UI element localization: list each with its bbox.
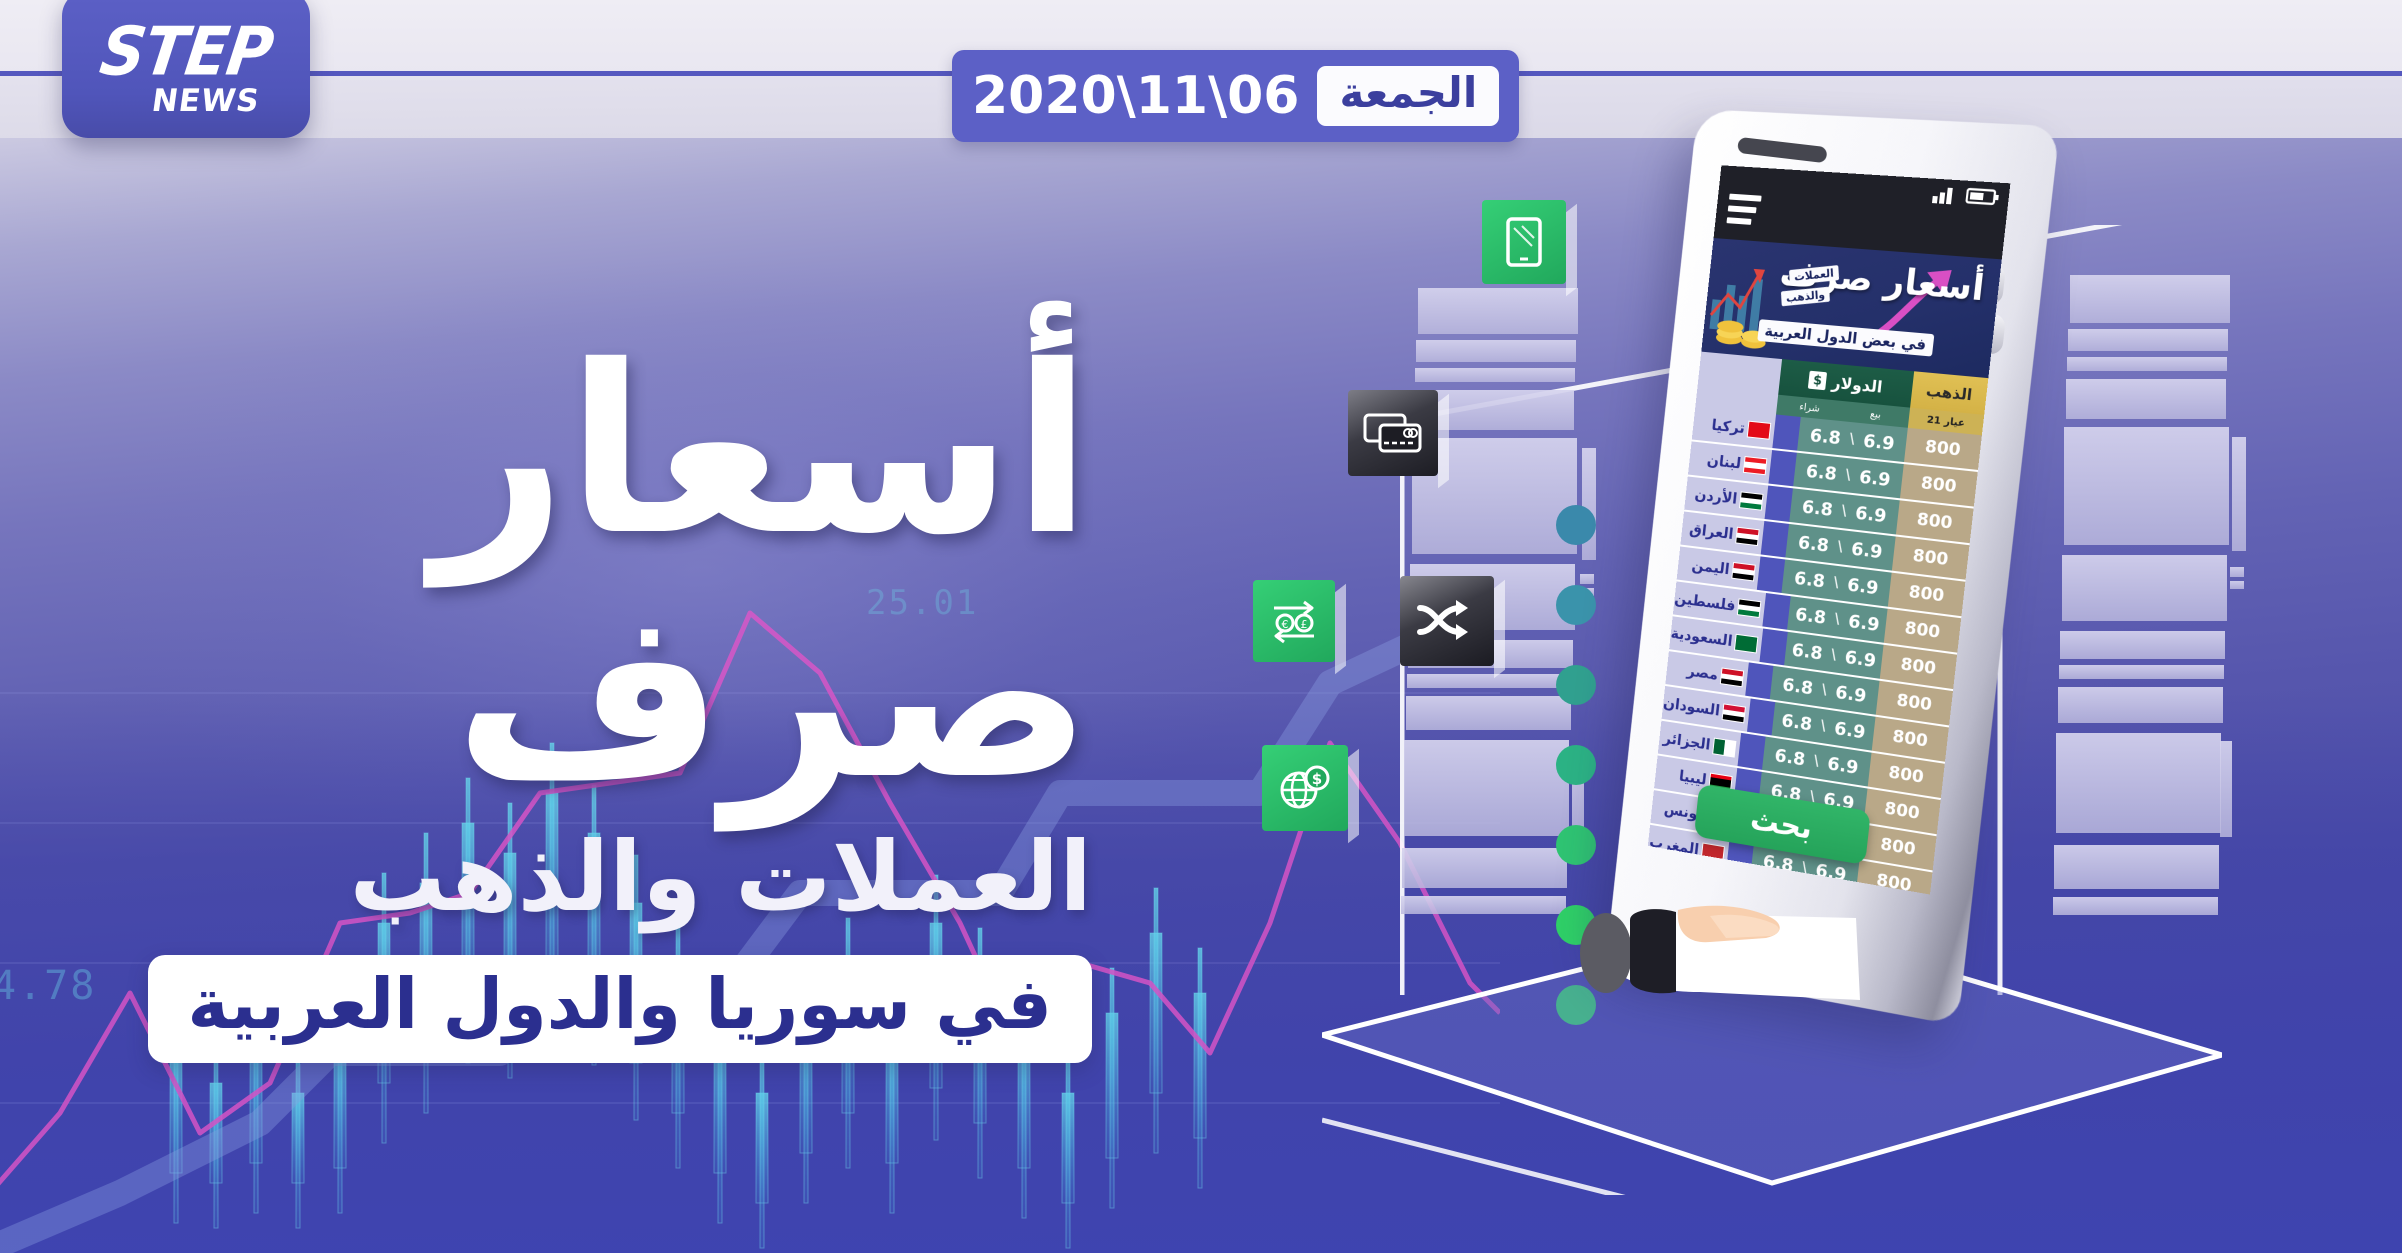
- cell-sell: 6.9: [1833, 717, 1866, 742]
- cell-buy: 6.8: [1797, 532, 1830, 557]
- cell-buy: 6.8: [1809, 425, 1842, 449]
- progress-dot: [1556, 745, 1596, 785]
- cell-sell: 6.9: [1826, 753, 1859, 779]
- flag-icon-iq: [1735, 526, 1759, 545]
- cell-spacer: [1747, 698, 1775, 735]
- logo-secondary-text: NEWS: [110, 83, 263, 119]
- hamburger-menu-icon[interactable]: [1726, 194, 1762, 232]
- svg-text:$: $: [1312, 770, 1322, 788]
- cell-spacer: [1761, 521, 1789, 557]
- flag-icon-lb: [1743, 456, 1767, 475]
- svg-text:€: €: [1282, 618, 1289, 631]
- cell-buy: 6.8: [1793, 567, 1826, 592]
- cell-separator: \: [1845, 467, 1852, 484]
- cell-gold: 800: [1896, 500, 1974, 543]
- cell-sell: 6.9: [1847, 610, 1880, 635]
- credit-cards-icon-tile[interactable]: [1348, 390, 1438, 476]
- flag-icon-ps: [1737, 598, 1761, 618]
- country-name: الجزائر: [1662, 729, 1711, 754]
- signal-bars-icon: [1931, 183, 1959, 205]
- cell-spacer: [1738, 733, 1766, 770]
- currency-exchange-icon-tile[interactable]: € £: [1253, 580, 1335, 662]
- page-title: أسعار صرف: [0, 330, 1092, 817]
- flag-icon-sd: [1722, 703, 1746, 723]
- page-scope-badge: في سوريا والدول العربية: [148, 955, 1092, 1063]
- cell-buy: 6.8: [1805, 460, 1838, 484]
- globe-dollar-icon: $: [1276, 762, 1334, 814]
- cell-country: تركيا: [1692, 406, 1776, 448]
- cell-spacer: [1757, 556, 1785, 593]
- infographic-canvas: 4.78 25.01 STEP NEWS 2020\11\06 الجمعة أ…: [0, 0, 2402, 1253]
- cell-sell: 6.9: [1844, 646, 1877, 671]
- flag-icon-jo: [1739, 491, 1763, 510]
- progress-dot: [1556, 505, 1596, 545]
- wireframe-card-right: [2060, 255, 2250, 975]
- progress-dot: [1556, 585, 1596, 625]
- cell-separator: \: [1821, 682, 1828, 699]
- globe-dollar-icon-tile[interactable]: $: [1262, 745, 1348, 831]
- col-header-dollar-label: الدولار: [1831, 372, 1884, 396]
- rates-table: الذهب الدولار $ عيار 21 بيع شراء 8006.9\…: [1656, 352, 1988, 814]
- svg-text:£: £: [1301, 618, 1308, 631]
- cell-buy: 6.8: [1794, 603, 1827, 628]
- cell-separator: \: [1820, 718, 1827, 735]
- mobile-phone-icon-tile[interactable]: [1482, 200, 1566, 284]
- progress-dot: [1556, 825, 1596, 865]
- country-name: الأردن: [1694, 485, 1738, 507]
- country-name: ليبيا: [1678, 767, 1707, 789]
- cell-spacer: [1745, 662, 1773, 699]
- weekday-badge: الجمعة: [1317, 66, 1499, 126]
- cell-sell: 6.9: [1858, 466, 1892, 490]
- cell-spacer: [1765, 486, 1793, 522]
- flag-icon-dz: [1712, 737, 1736, 757]
- transfer-shuffle-icon-tile[interactable]: [1400, 576, 1494, 666]
- cell-spacer: [1763, 593, 1791, 630]
- headline-block: أسعار صرف العملات والذهب في سوريا والدول…: [0, 330, 1092, 1063]
- country-name: لبنان: [1706, 451, 1742, 472]
- cell-sell: 6.9: [1834, 681, 1867, 706]
- cell-buy: 6.8: [1781, 674, 1814, 699]
- cell-buy: 6.8: [1774, 745, 1807, 770]
- cell-separator: \: [1833, 575, 1840, 592]
- flag-icon-eg: [1720, 667, 1744, 687]
- step-news-logo[interactable]: STEP NEWS: [62, 0, 310, 138]
- flag-icon-ye: [1731, 561, 1755, 581]
- country-name: اليمن: [1691, 556, 1731, 578]
- cell-separator: \: [1830, 647, 1837, 664]
- cell-sell: 6.9: [1846, 574, 1879, 599]
- logo-primary-text: STEP: [96, 20, 276, 84]
- cell-gold: 800: [1904, 428, 1982, 470]
- phone-status-bar: [1931, 183, 2002, 208]
- pointing-hand: [1560, 880, 1860, 1010]
- cell-separator: \: [1837, 539, 1844, 556]
- date-badge: 2020\11\06 الجمعة: [952, 50, 1519, 142]
- flag-icon-tr: [1747, 420, 1772, 439]
- cell-spacer: [1760, 629, 1788, 666]
- flag-icon-sa: [1734, 633, 1758, 653]
- page-subtitle: العملات والذهب: [0, 821, 1092, 933]
- cell-spacer: [1772, 414, 1800, 450]
- dollar-symbol-icon: $: [1808, 371, 1827, 391]
- mobile-phone-icon: [1502, 216, 1546, 268]
- credit-cards-icon: [1362, 409, 1424, 457]
- cell-separator: \: [1834, 611, 1841, 628]
- country-name: السعودية: [1670, 624, 1733, 650]
- progress-dot: [1556, 665, 1596, 705]
- cell-gold: 800: [1900, 464, 1978, 506]
- cell-sell: 6.9: [1862, 430, 1896, 454]
- cell-buy: 6.8: [1801, 496, 1834, 520]
- cell-buy: 6.8: [1791, 639, 1824, 664]
- smartphone-mockup: أسعار صرف في بعض الدول العربية العملات و…: [1640, 118, 2010, 998]
- currency-exchange-icon: € £: [1266, 596, 1322, 646]
- country-name: فلسطين: [1674, 589, 1737, 615]
- date-value: 2020\11\06: [972, 66, 1299, 126]
- battery-icon: [1965, 185, 2002, 208]
- cell-separator: \: [1849, 431, 1856, 448]
- cell-separator: \: [1813, 753, 1820, 770]
- cell-sell: 6.9: [1854, 502, 1888, 527]
- country-name: السودان: [1662, 694, 1720, 720]
- cell-sell: 6.9: [1850, 538, 1883, 563]
- country-name: مصر: [1686, 662, 1719, 684]
- country-name: العراق: [1689, 520, 1735, 543]
- transfer-shuffle-icon: [1416, 598, 1478, 644]
- country-name: تركيا: [1711, 416, 1746, 437]
- cell-separator: \: [1841, 503, 1848, 520]
- cell-buy: 6.8: [1780, 710, 1813, 735]
- cell-spacer: [1768, 450, 1796, 486]
